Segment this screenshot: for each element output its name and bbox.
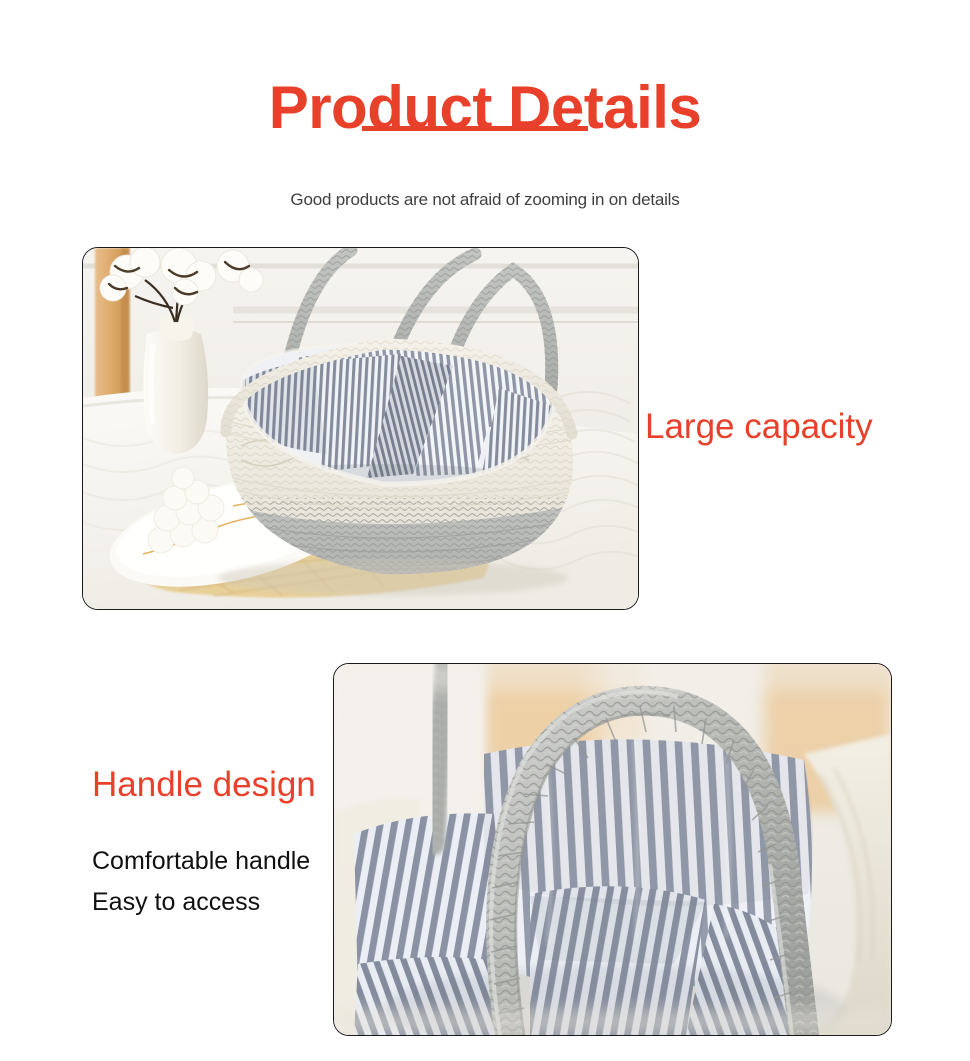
page-subtitle: Good products are not afraid of zooming …	[0, 188, 970, 212]
callout-heading-handle-design: Handle design	[92, 763, 316, 807]
callout-body-comfortable-handle: Comfortable handle	[92, 845, 310, 878]
page-title: Product Details	[0, 73, 970, 143]
basket-overview-illustration	[83, 248, 638, 609]
photo-handle-closeup[interactable]	[333, 663, 892, 1036]
callout-body-easy-to-access: Easy to access	[92, 886, 260, 919]
callout-heading-large-capacity: Large capacity	[645, 405, 873, 449]
product-details-page: Product Details Good products are not af…	[0, 0, 970, 1061]
photo-basket-overview[interactable]	[82, 247, 639, 610]
title-underline-divider	[362, 126, 588, 131]
handle-closeup-illustration	[334, 664, 891, 1035]
